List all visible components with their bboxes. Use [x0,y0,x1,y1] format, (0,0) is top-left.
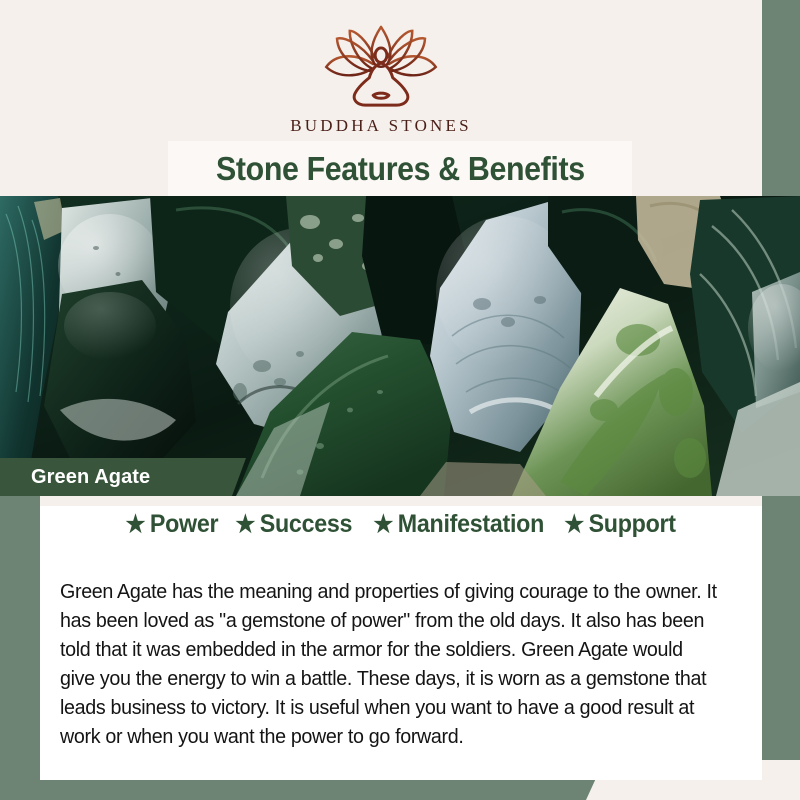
benefits-row: ★ Power ★ Success ★ Manifestation ★ Supp… [40,510,762,539]
content-card: ★ Power ★ Success ★ Manifestation ★ Supp… [40,496,762,780]
stone-description: Green Agate has the meaning and properti… [60,577,719,751]
decorative-left-strip [0,470,40,800]
infographic-poster: BUDDHA STONES Stone Features & Benefits [0,0,800,800]
benefit-label: Power [149,510,217,539]
brand-logo-block: BUDDHA STONES [0,22,762,136]
star-icon: ★ [236,513,256,537]
stone-name: Green Agate [31,466,150,489]
brand-name: BUDDHA STONES [290,116,472,136]
benefit-item-support: ★ Support [565,510,677,539]
star-icon: ★ [125,513,145,537]
benefit-item-power: ★ Power [125,510,218,539]
title-plaque: Stone Features & Benefits [168,141,632,196]
lotus-meditation-icon [321,22,441,110]
stone-name-banner: Green Agate [0,458,246,496]
benefit-item-manifestation: ★ Manifestation [373,510,544,539]
header: BUDDHA STONES Stone Features & Benefits [0,0,762,196]
stone-photo [0,196,800,496]
benefit-label: Support [589,510,676,539]
card-top-strip [40,496,762,506]
benefit-label: Manifestation [398,510,544,539]
benefit-item-success: ★ Success [236,510,353,539]
benefit-label: Success [260,510,352,539]
star-icon: ★ [373,513,393,537]
star-icon: ★ [565,513,585,537]
page-title: Stone Features & Benefits [216,150,585,188]
